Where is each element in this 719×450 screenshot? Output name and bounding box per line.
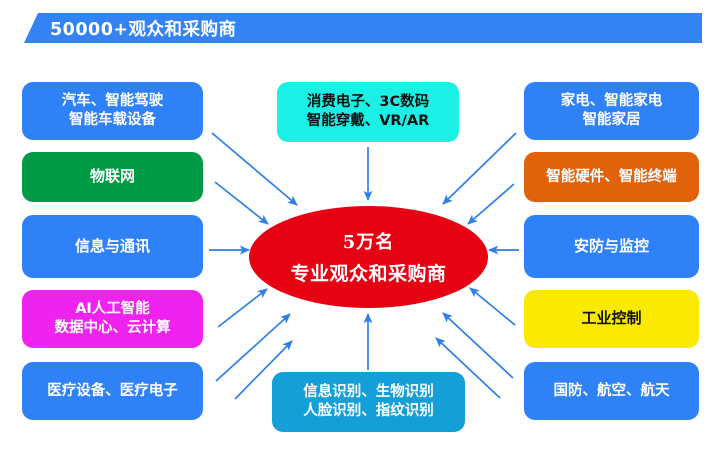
arrow-automotive-to-hub bbox=[212, 133, 297, 205]
node-recognition[interactable]: 信息识别、生物识别 人脸识别、指纹识别 bbox=[272, 372, 465, 432]
node-home-appliance-line2: 智能家居 bbox=[583, 111, 641, 130]
node-industrial-control-line1: 工业控制 bbox=[581, 309, 641, 328]
arrow-industrial-to-hub bbox=[470, 288, 515, 325]
node-smart-hardware-line1: 智能硬件、智能终端 bbox=[546, 168, 677, 187]
node-info-comm[interactable]: 信息与通讯 bbox=[22, 215, 203, 278]
node-medical[interactable]: 医疗设备、医疗电子 bbox=[22, 362, 203, 420]
node-defense-aerospace[interactable]: 国防、航空、航天 bbox=[524, 362, 699, 420]
node-recognition-line1: 信息识别、生物识别 bbox=[303, 383, 434, 402]
arrow-defense-to-hub bbox=[443, 313, 513, 378]
node-industrial-control[interactable]: 工业控制 bbox=[524, 290, 699, 348]
node-iot[interactable]: 物联网 bbox=[22, 152, 203, 202]
node-ai-cloud[interactable]: AI人工智能 数据中心、云计算 bbox=[22, 290, 203, 348]
center-hub[interactable]: 5万名 专业观众和采购商 bbox=[249, 206, 488, 308]
node-consumer-electronics-line2: 智能穿戴、VR/AR bbox=[307, 112, 430, 131]
arrow-smarthardware-to-hub bbox=[468, 184, 514, 224]
node-security-surveillance[interactable]: 安防与监控 bbox=[524, 215, 699, 278]
node-home-appliance[interactable]: 家电、智能家电 智能家居 bbox=[524, 82, 699, 140]
node-home-appliance-line1: 家电、智能家电 bbox=[561, 92, 663, 111]
node-ai-cloud-line2: 数据中心、云计算 bbox=[55, 319, 171, 338]
diagram-canvas: 50000+观众和采购商 汽 bbox=[0, 0, 719, 450]
node-medical-line1: 医疗设备、医疗电子 bbox=[47, 382, 178, 401]
node-consumer-electronics-line1: 消费电子、3C数码 bbox=[307, 93, 429, 112]
node-automotive-line2: 智能车载设备 bbox=[69, 111, 156, 130]
arrow-iot-to-hub bbox=[215, 182, 268, 224]
node-smart-hardware[interactable]: 智能硬件、智能终端 bbox=[524, 152, 699, 202]
arrow-ai-to-hub bbox=[218, 289, 267, 327]
node-defense-aerospace-line1: 国防、航空、航天 bbox=[554, 382, 670, 401]
node-recognition-line2: 人脸识别、指纹识别 bbox=[303, 402, 434, 421]
node-ai-cloud-line1: AI人工智能 bbox=[75, 300, 150, 319]
center-hub-line1: 5万名 bbox=[343, 228, 395, 254]
node-iot-line1: 物联网 bbox=[90, 167, 135, 186]
node-security-surveillance-line1: 安防与监控 bbox=[574, 237, 649, 256]
arrow-medical-to-hub bbox=[216, 314, 290, 381]
node-automotive-line1: 汽车、智能驾驶 bbox=[62, 92, 164, 111]
center-hub-line2: 专业观众和采购商 bbox=[290, 259, 446, 286]
arrow-homeappliance-to-hub bbox=[443, 133, 516, 204]
node-info-comm-line1: 信息与通讯 bbox=[75, 237, 150, 256]
node-consumer-electronics[interactable]: 消费电子、3C数码 智能穿戴、VR/AR bbox=[277, 82, 459, 142]
node-automotive[interactable]: 汽车、智能驾驶 智能车载设备 bbox=[22, 82, 203, 140]
